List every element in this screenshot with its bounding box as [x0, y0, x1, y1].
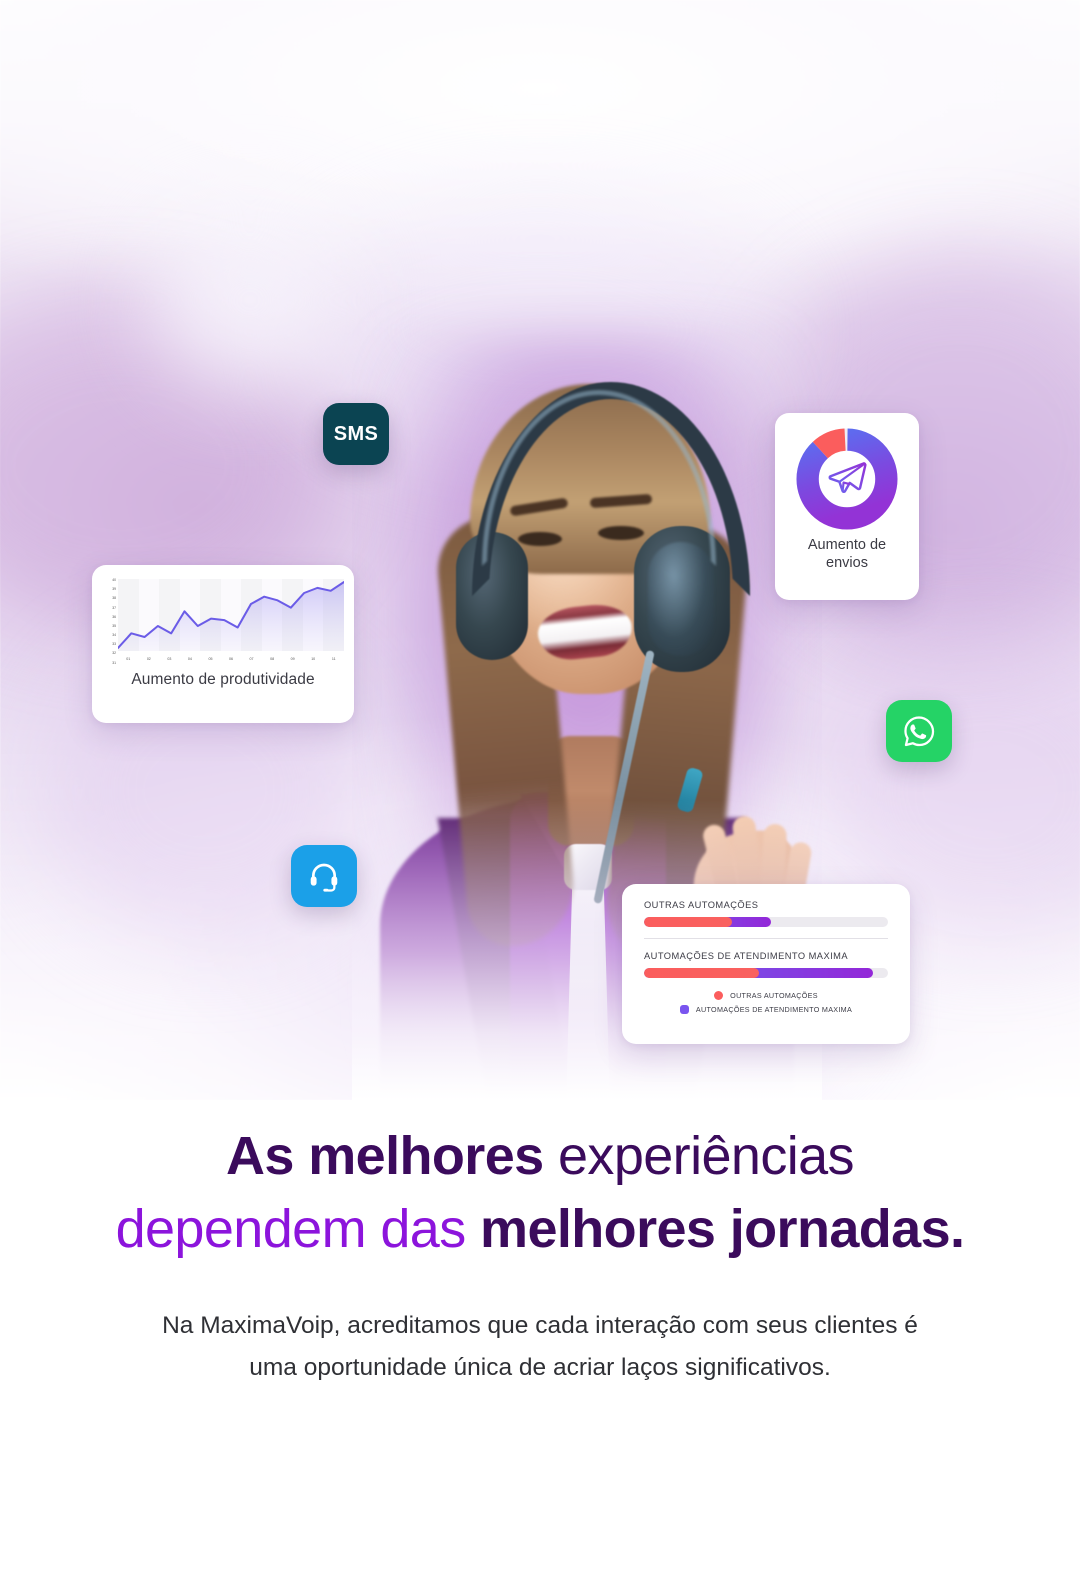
paper-plane-icon	[824, 456, 870, 502]
y-tick: 36	[112, 616, 116, 619]
bar-segment-red	[644, 917, 732, 927]
automations-row2-label: AUTOMAÇÕES DE ATENDIMENTO MAXIMA	[644, 951, 888, 961]
legend-item: AUTOMAÇÕES DE ATENDIMENTO MAXIMA	[680, 1005, 852, 1014]
legend-color-swatch	[714, 991, 723, 1000]
sms-badge[interactable]: SMS	[323, 403, 389, 465]
productivity-card: 40 39 38 37 36 35 34 33 32 31	[92, 565, 354, 723]
x-tick: 07	[241, 657, 262, 661]
envios-donut-chart	[795, 427, 899, 531]
headline-part-2: experiências	[558, 1126, 854, 1186]
whatsapp-icon	[900, 712, 938, 750]
envios-caption-line2: envios	[808, 555, 886, 573]
x-tick: 06	[221, 657, 242, 661]
x-tick: 08	[262, 657, 283, 661]
headline-part-4: melhores jornadas.	[480, 1199, 964, 1259]
headset-icon	[306, 858, 342, 894]
productivity-card-caption: Aumento de produtividade	[92, 671, 354, 689]
chart-x-axis-labels: 01 02 03 04 05 06 07 08 09 10 11	[118, 653, 344, 665]
y-tick: 38	[112, 597, 116, 600]
y-tick: 37	[112, 607, 116, 610]
automations-row2-bar	[644, 968, 888, 978]
landing-hero-page: SMS	[0, 0, 1080, 1589]
legend-label: OUTRAS AUTOMAÇÕES	[730, 991, 818, 1000]
x-tick: 11	[323, 657, 344, 661]
y-tick: 40	[112, 579, 116, 582]
headline-part-1: As melhores	[226, 1126, 544, 1186]
x-tick: 04	[180, 657, 201, 661]
y-tick: 31	[112, 662, 116, 665]
page-title: As melhores experiências dependem das me…	[0, 1120, 1080, 1267]
productivity-chart: 40 39 38 37 36 35 34 33 32 31	[102, 579, 344, 665]
legend-color-swatch	[680, 1005, 689, 1014]
chart-plot-area	[118, 579, 344, 651]
x-tick: 02	[139, 657, 160, 661]
x-tick: 10	[303, 657, 324, 661]
legend-label: AUTOMAÇÕES DE ATENDIMENTO MAXIMA	[696, 1005, 852, 1014]
y-tick: 34	[112, 634, 116, 637]
y-tick: 39	[112, 588, 116, 591]
legend-item: OUTRAS AUTOMAÇÕES	[714, 991, 818, 1000]
envios-caption-line1: Aumento de	[808, 537, 886, 555]
automations-row1-label: OUTRAS AUTOMAÇÕES	[644, 900, 888, 910]
whatsapp-badge[interactable]	[886, 700, 952, 762]
envios-card-caption: Aumento de envios	[808, 537, 886, 572]
x-tick: 05	[200, 657, 221, 661]
automations-row1-bar	[644, 917, 888, 927]
headline-part-3: dependem das	[116, 1199, 466, 1259]
x-tick: 03	[159, 657, 180, 661]
hero-paragraph: Na MaximaVoip, acreditamos que cada inte…	[140, 1305, 940, 1389]
headline-line-1: As melhores experiências	[0, 1120, 1080, 1193]
headset-badge[interactable]	[291, 845, 357, 907]
sms-badge-label: SMS	[334, 423, 379, 446]
automations-card: OUTRAS AUTOMAÇÕES AUTOMAÇÕES DE ATENDIME…	[622, 884, 910, 1044]
envios-card: Aumento de envios	[775, 413, 919, 600]
y-tick: 32	[112, 652, 116, 655]
bar-segment-red	[644, 968, 759, 978]
automations-legend: OUTRAS AUTOMAÇÕES AUTOMAÇÕES DE ATENDIME…	[644, 991, 888, 1014]
hero-copy: As melhores experiências dependem das me…	[0, 1120, 1080, 1389]
y-tick: 33	[112, 643, 116, 646]
x-tick: 01	[118, 657, 139, 661]
y-tick: 35	[112, 625, 116, 628]
headline-line-2: dependem das melhores jornadas.	[0, 1193, 1080, 1266]
automations-divider	[644, 938, 888, 939]
hero-image: SMS	[0, 0, 1080, 1100]
chart-y-axis-labels: 40 39 38 37 36 35 34 33 32 31	[102, 579, 118, 665]
chart-line-svg	[118, 579, 344, 651]
x-tick: 09	[282, 657, 303, 661]
